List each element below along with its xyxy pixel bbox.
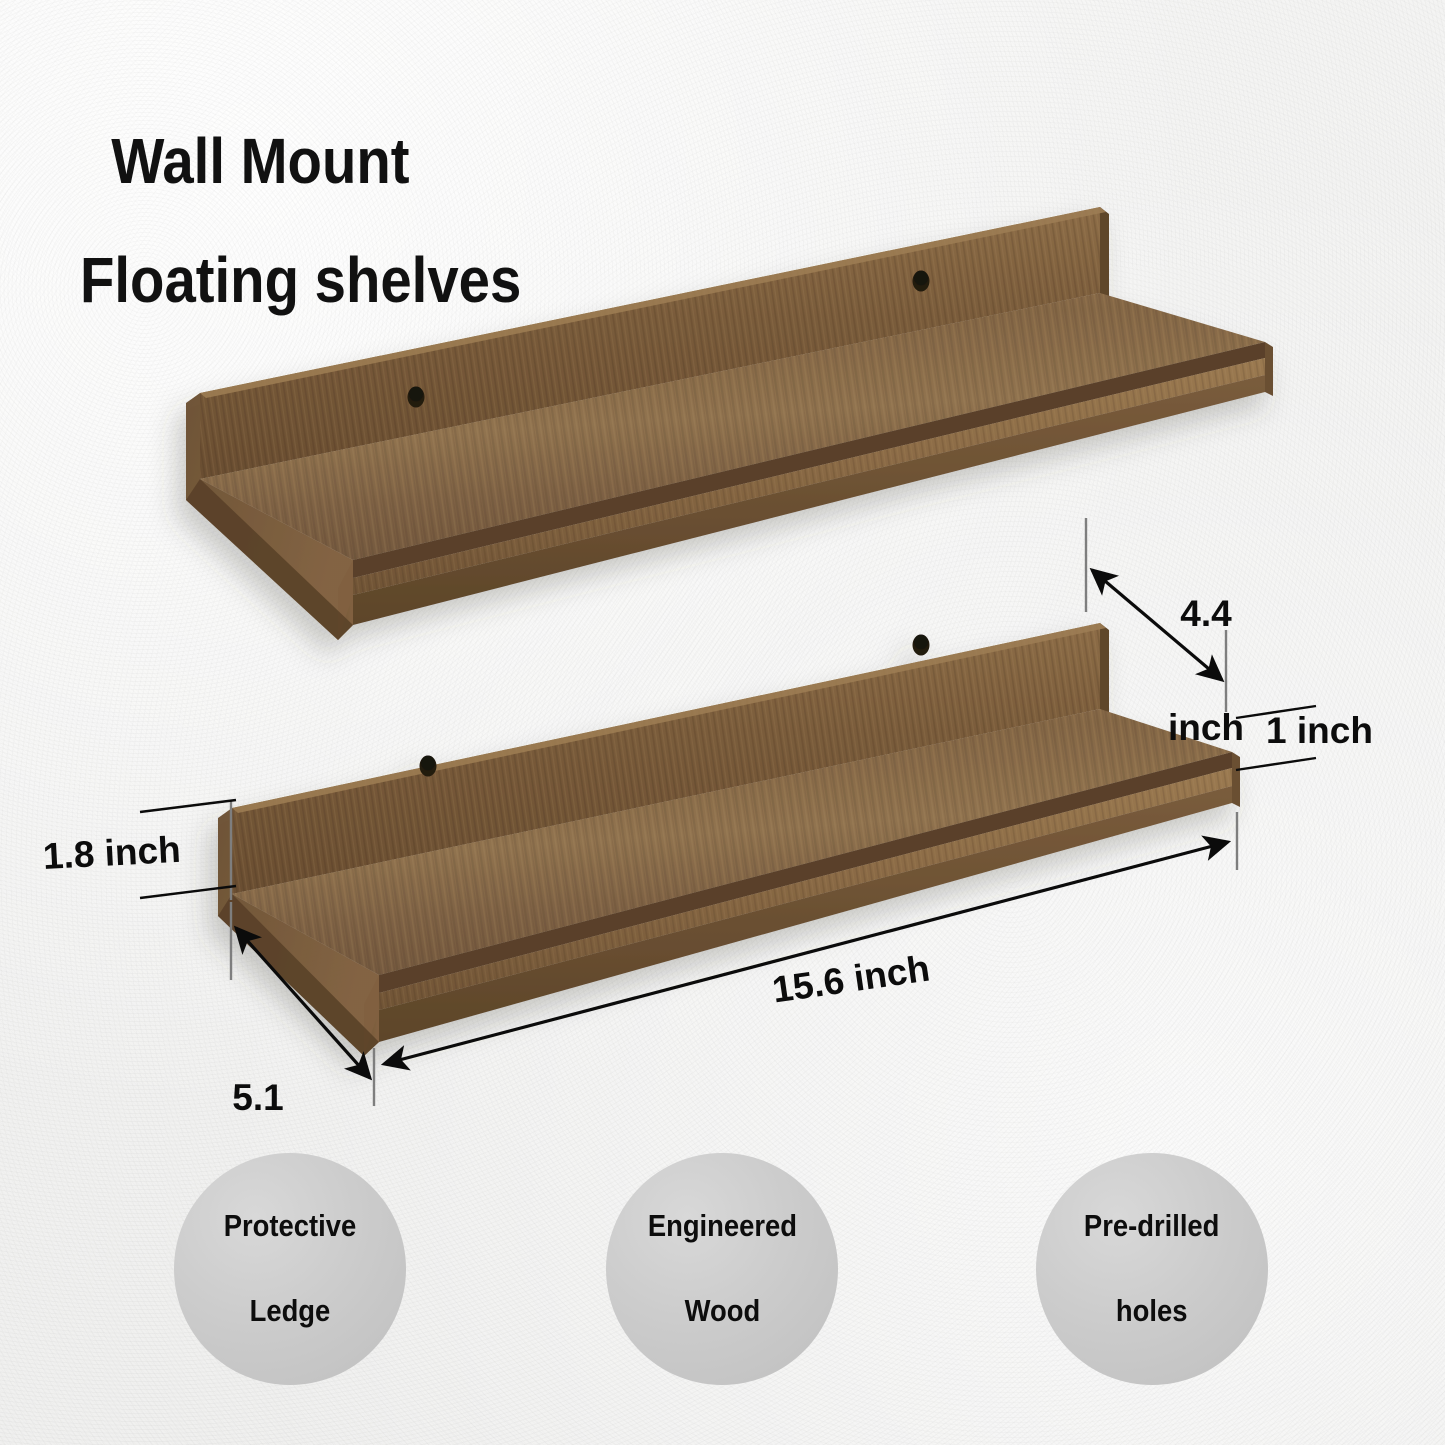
dim-44-value: 4.4 xyxy=(1146,595,1266,633)
feature-0-line-2: Ledge xyxy=(224,1290,356,1333)
feature-badge-protective-ledge: Protective Ledge xyxy=(174,1153,406,1385)
feature-badge-pre-drilled-holes: Pre-drilled holes xyxy=(1036,1153,1268,1385)
dimension-label-1-inch: 1 inch xyxy=(1266,712,1373,750)
feature-badges: Protective Ledge Engineered Wood Pre-dri… xyxy=(0,1135,1445,1415)
feature-1-line-1: Engineered xyxy=(647,1205,796,1248)
page-title: Wall Mount Floating shelves xyxy=(80,72,521,370)
title-line-2: Floating shelves xyxy=(80,251,521,311)
feature-2-line-1: Pre-drilled xyxy=(1084,1205,1219,1248)
dimension-label-1-8-inch: 1.8 inch xyxy=(42,831,182,876)
title-line-1: Wall Mount xyxy=(111,125,409,197)
feature-2-line-2: holes xyxy=(1084,1290,1219,1333)
dim-44-unit: inch xyxy=(1146,709,1266,747)
dim-51-value: 5.1 xyxy=(198,1079,318,1117)
shelf-lower xyxy=(218,623,1240,1056)
leader-18-top xyxy=(140,800,236,812)
dimension-label-4-4-inch: 4.4 inch xyxy=(1146,520,1266,784)
feature-0-line-1: Protective xyxy=(224,1205,356,1248)
feature-1-line-2: Wood xyxy=(647,1290,796,1333)
feature-badge-engineered-wood: Engineered Wood xyxy=(606,1153,838,1385)
